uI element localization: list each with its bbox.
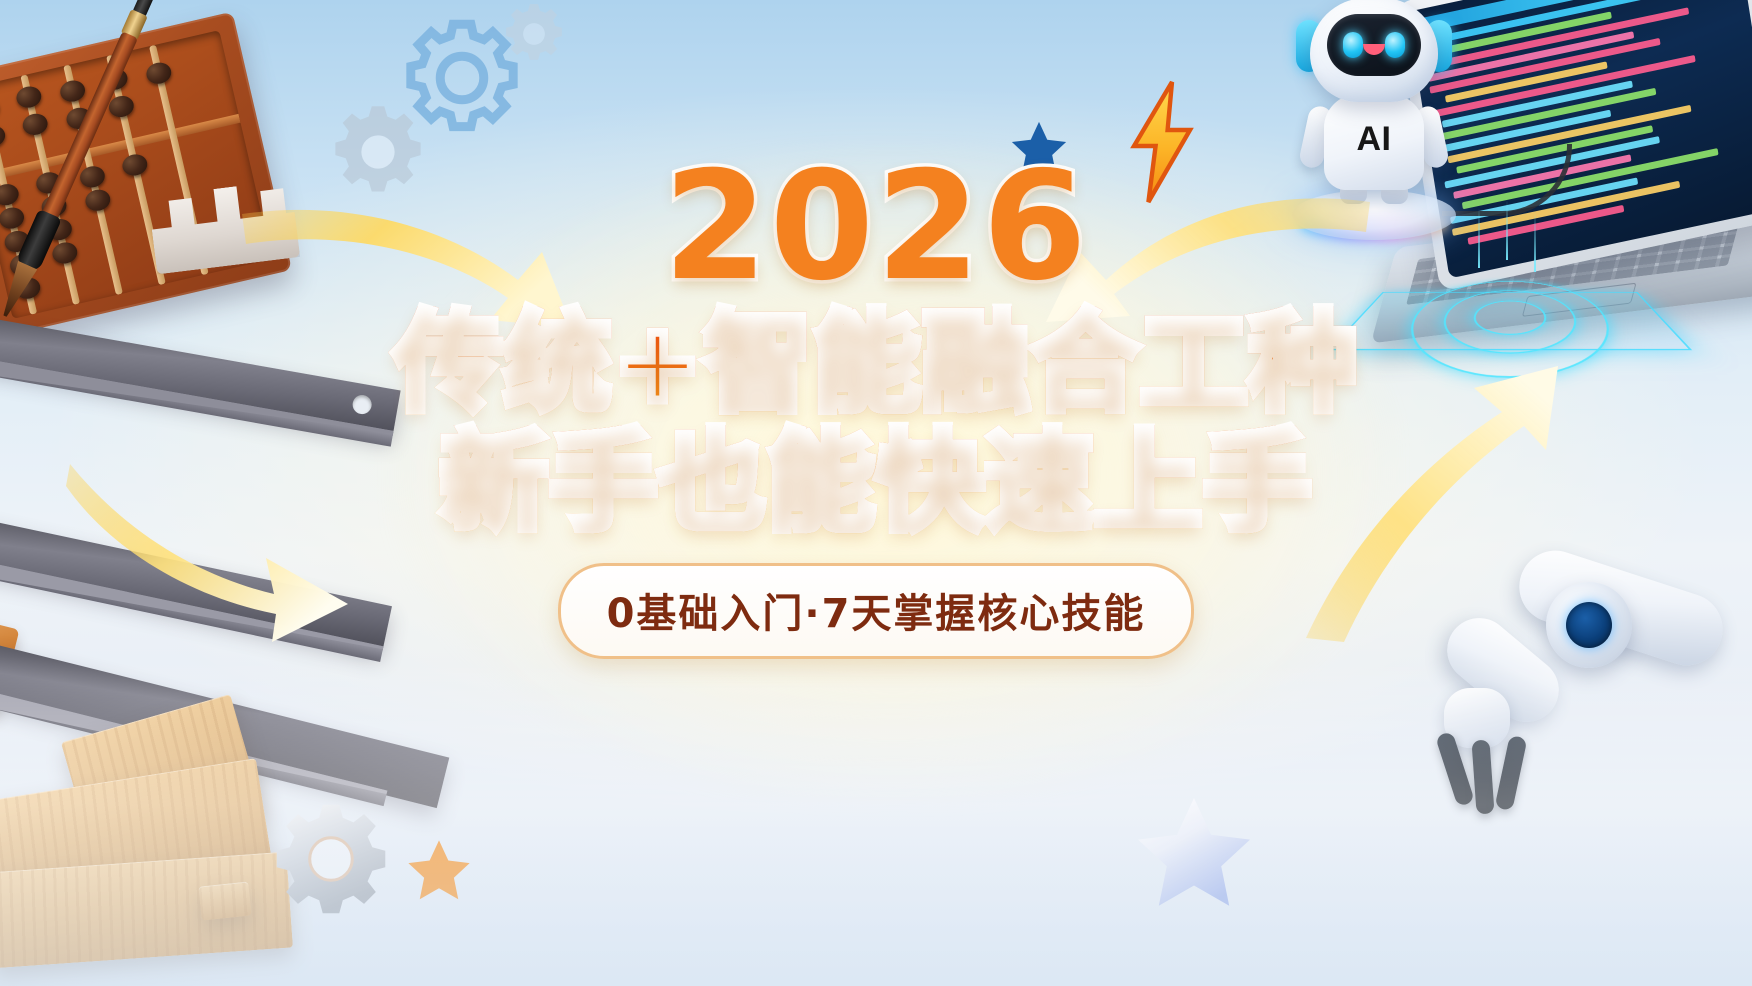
gripper-finger-1 [1435, 731, 1475, 807]
gripper-finger-2 [1471, 739, 1494, 814]
banner-stage: AI [0, 0, 1752, 986]
robot-head [1310, 0, 1438, 102]
code-editor-titlebar [1419, 0, 1733, 32]
code-line [1437, 88, 1656, 141]
robot-antenna [1363, 0, 1379, 11]
gear-gray-small-icon [500, 0, 568, 68]
headline-line-1: 传统+智能融合工种 [0, 306, 1752, 423]
robot-arm-wrist [1444, 688, 1510, 748]
floor-sheen [0, 656, 1752, 986]
robot-headphone-right [1426, 20, 1452, 72]
wood-chip [198, 881, 251, 920]
code-line [1445, 61, 1608, 102]
code-line [1439, 7, 1689, 67]
wood-block-upper [0, 758, 273, 910]
code-line [1427, 31, 1634, 82]
subtitle-pill: 0基础入门·7天掌握核心技能 [558, 563, 1195, 659]
handsaw-lower [0, 644, 449, 808]
subtitle-text: 0基础入门·7天掌握核心技能 [607, 591, 1146, 637]
code-line [1439, 110, 1611, 153]
year-title: 2026 [0, 152, 1752, 302]
code-line [1433, 55, 1696, 118]
star-silver-bottom-icon [1130, 790, 1258, 918]
headline-line-2: 新手也能快速上手 [0, 425, 1752, 542]
steel-gear-prop-icon [272, 800, 390, 918]
robot-mouth [1363, 44, 1385, 55]
star-orange-bottom-icon [404, 836, 474, 906]
robot-headphone-left [1296, 20, 1322, 72]
robot-eye-left [1343, 32, 1363, 58]
gear-blue-large-icon [398, 14, 526, 142]
code-line [1422, 0, 1647, 46]
robot-eye-right [1385, 32, 1405, 58]
wood-block-vertical [61, 694, 263, 858]
headline-block: 2026 传统+智能融合工种 新手也能快速上手 0基础入门·7天掌握核心技能 [0, 152, 1752, 659]
robot-face-visor [1327, 14, 1421, 76]
code-line [1429, 38, 1661, 94]
code-line [1431, 11, 1613, 56]
code-line [1442, 81, 1633, 128]
gripper-finger-3 [1495, 735, 1528, 811]
wood-block-lower [0, 852, 293, 969]
